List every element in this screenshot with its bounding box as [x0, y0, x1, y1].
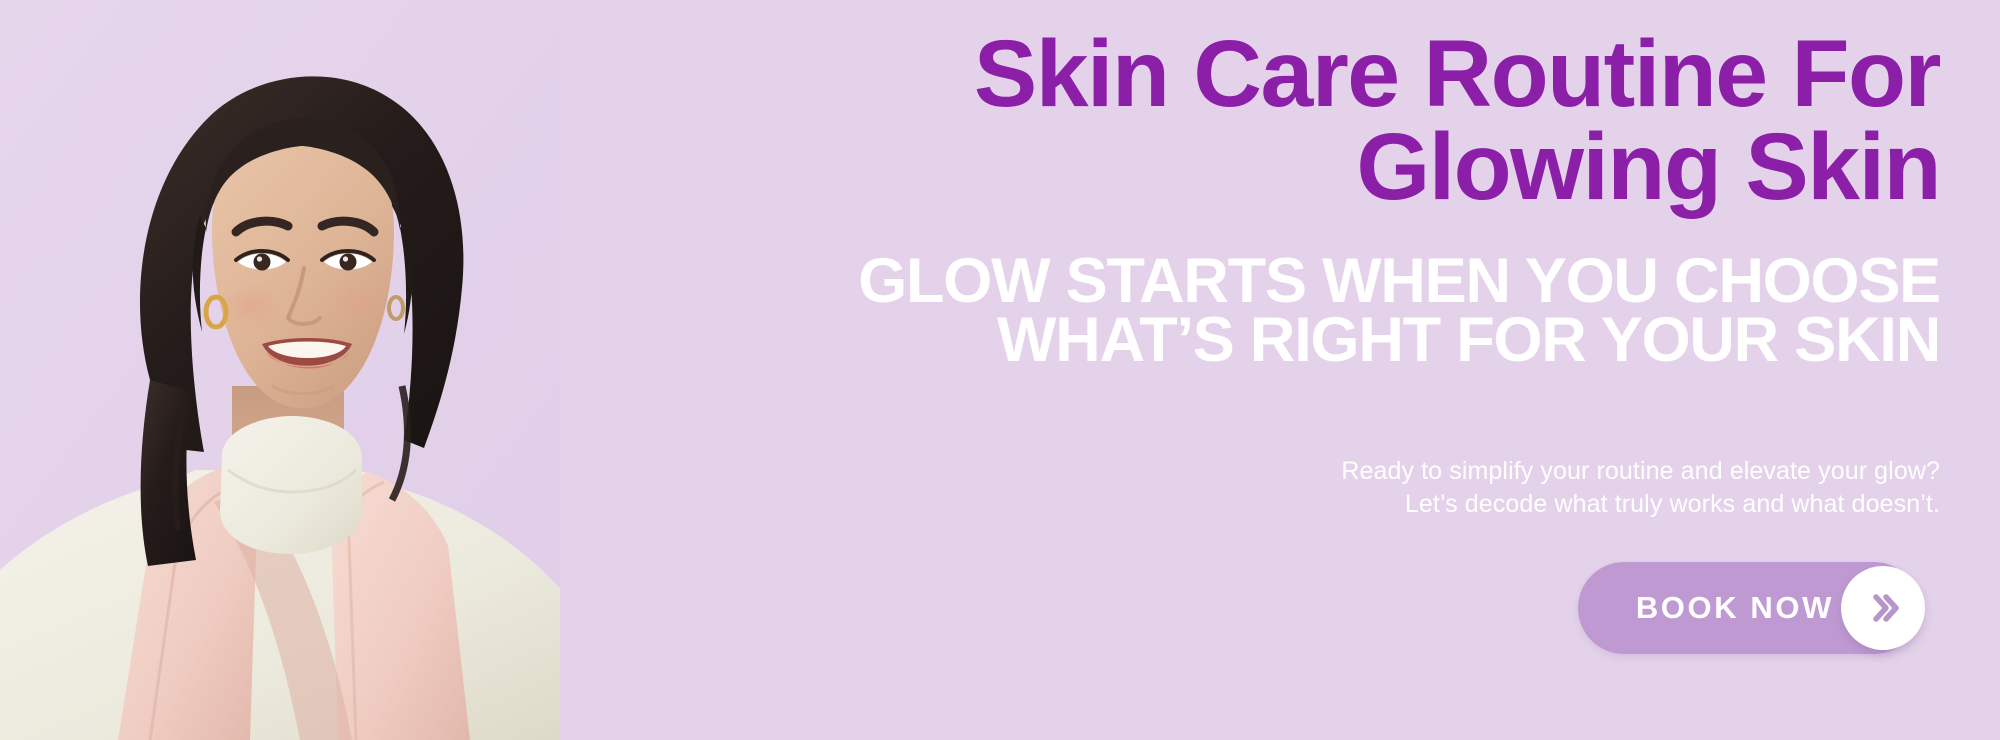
headline-line-2: Glowing Skin [600, 121, 1940, 214]
model-photo [0, 0, 560, 740]
model-photo-illustration [0, 0, 560, 740]
body-copy: Ready to simplify your routine and eleva… [600, 455, 1940, 521]
page-title: Skin Care Routine For Glowing Skin [600, 28, 1940, 214]
book-now-label: BOOK NOW [1636, 590, 1834, 626]
subheading-line-2: WHAT’S RIGHT FOR YOUR SKIN [600, 311, 1940, 370]
double-chevron-right-icon[interactable] [1841, 566, 1925, 650]
book-now-button[interactable]: BOOK NOW [1578, 562, 1920, 654]
body-copy-line-2: Let’s decode what truly works and what d… [600, 488, 1940, 521]
banner-content: Skin Care Routine For Glowing Skin GLOW … [600, 0, 1940, 740]
subheading: GLOW STARTS WHEN YOU CHOOSE WHAT’S RIGHT… [600, 252, 1940, 370]
promo-banner: Skin Care Routine For Glowing Skin GLOW … [0, 0, 2000, 740]
cta-container: BOOK NOW [1578, 562, 1920, 654]
headline-line-1: Skin Care Routine For [600, 28, 1940, 121]
body-copy-line-1: Ready to simplify your routine and eleva… [600, 455, 1940, 488]
subheading-line-1: GLOW STARTS WHEN YOU CHOOSE [600, 252, 1940, 311]
